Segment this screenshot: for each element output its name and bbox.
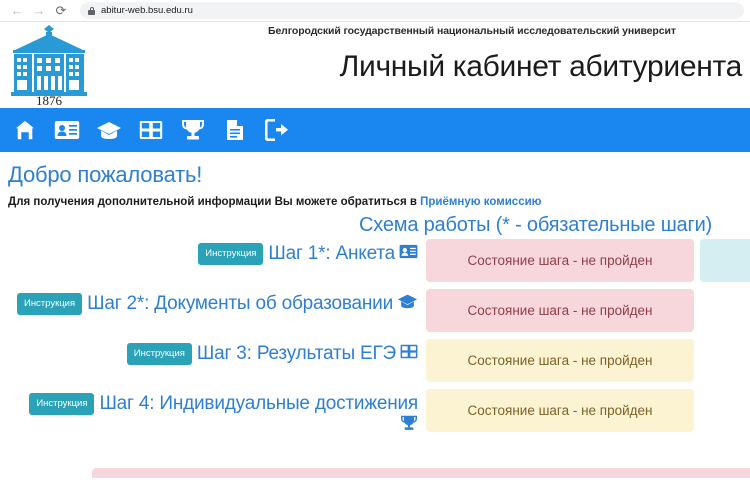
step-2-left: ИнструкцияШаг 2*: Документы об образован… [8,289,426,315]
id-card-icon [399,244,418,264]
step-row: ИнструкцияШаг 3: Результаты ЕГЭ Состояни… [8,339,742,383]
nav-home[interactable] [12,117,38,143]
lock-icon [88,7,95,15]
info-text: Для получения дополнительной информации … [8,196,420,208]
step-4-label[interactable]: Шаг 4: Индивидуальные достижения [99,393,418,414]
nav-documents[interactable] [222,117,248,143]
id-card-icon [54,120,80,140]
step-4-left: ИнструкцияШаг 4: Индивидуальные достижен… [8,389,426,436]
instruction-button-step-3[interactable]: Инструкция [127,343,192,365]
trophy-icon [181,119,205,141]
table-grid-icon [400,344,418,364]
status-badge: Состоя [700,239,750,282]
table-grid-icon [139,120,163,140]
admissions-committee-link[interactable]: Приёмную комиссию [420,196,541,208]
instruction-button-step-1[interactable]: Инструкция [198,243,263,265]
step-row: ИнструкцияШаг 1*: Анкета Состояние шага … [8,239,742,283]
next-step-status-partial [92,468,750,478]
scheme-title: Схема работы (* - обязательные шаги) [8,214,742,237]
step-3-label[interactable]: Шаг 3: Результаты ЕГЭ [197,343,396,364]
university-logo: 1876 [6,24,92,106]
document-icon [225,119,245,141]
home-icon [13,119,37,141]
main-navigation [0,108,750,152]
forward-arrow-icon[interactable]: → [28,1,50,21]
url-text: abitur-web.bsu.edu.ru [101,5,193,16]
instruction-button-step-2[interactable]: Инструкция [17,293,82,315]
nav-education[interactable] [96,117,122,143]
info-line: Для получения дополнительной информации … [8,196,742,208]
status-badge: Состояние шага - не пройден [426,289,694,332]
step-1-left: ИнструкцияШаг 1*: Анкета [8,239,426,265]
site-header: 1876 Белгородский государственный национ… [0,22,750,108]
step-row: ИнструкцияШаг 2*: Документы об образован… [8,289,742,333]
address-bar[interactable]: abitur-web.bsu.edu.ru [80,2,744,19]
instruction-button-step-4[interactable]: Инструкция [29,393,94,415]
nav-achievements[interactable] [180,117,206,143]
reload-icon[interactable]: ⟳ [50,1,72,21]
graduation-cap-icon [397,293,418,314]
status-badge: Состояние шага - не пройден [426,339,694,382]
trophy-icon [400,415,418,436]
graduation-cap-icon [96,120,122,140]
step-3-left: ИнструкцияШаг 3: Результаты ЕГЭ [8,339,426,365]
step-row: ИнструкцияШаг 4: Индивидуальные достижен… [8,389,742,436]
step-1-label[interactable]: Шаг 1*: Анкета [268,243,395,264]
logout-icon [265,119,289,141]
logo-year: 1876 [36,93,63,106]
status-badge: Состояние шага - не пройден [426,239,694,282]
page-title: Личный кабинет абитуриента [340,50,742,84]
main-content: Добро пожаловать! Для получения дополнит… [0,152,750,478]
welcome-heading: Добро пожаловать! [8,162,742,188]
nav-exam-results[interactable] [138,117,164,143]
university-name: Белгородский государственный национальны… [268,25,676,37]
nav-logout[interactable] [264,117,290,143]
browser-toolbar: ← → ⟳ abitur-web.bsu.edu.ru [0,0,750,22]
step-2-label[interactable]: Шаг 2*: Документы об образовании [87,293,393,314]
status-badge: Состояние шага - не пройден [426,389,694,432]
nav-profile[interactable] [54,117,80,143]
back-arrow-icon[interactable]: ← [6,1,28,21]
